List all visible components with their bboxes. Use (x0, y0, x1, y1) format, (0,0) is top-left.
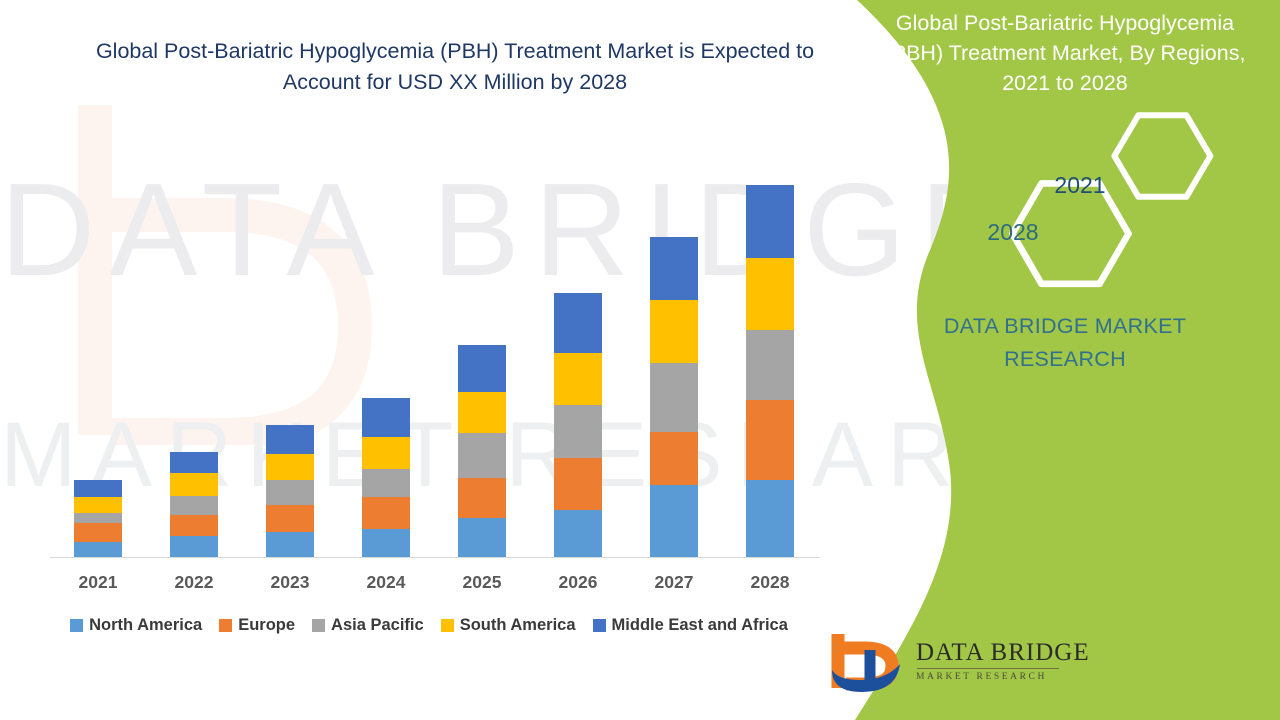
bar-segment-middle-east-and-africa-2021 (74, 480, 122, 497)
x-axis-label-2023: 2023 (250, 572, 330, 593)
bar-segment-middle-east-and-africa-2028 (746, 185, 794, 258)
logo-sub-text: MARKET RESEARCH (916, 671, 1066, 683)
legend-label: Europe (238, 616, 295, 635)
bar-2026 (554, 293, 602, 557)
bar-series-container (0, 0, 880, 557)
logo-text-block: DATA BRIDGE MARKET RESEARCH (916, 638, 1066, 683)
hexagon-label-2021: 2021 (1035, 172, 1125, 199)
logo-divider (917, 668, 1059, 669)
chart-legend: North AmericaEuropeAsia PacificSouth Ame… (0, 616, 858, 635)
x-axis-label-2025: 2025 (442, 572, 522, 593)
bar-segment-south-america-2028 (746, 258, 794, 330)
bar-2022 (170, 452, 218, 557)
legend-label: Asia Pacific (331, 616, 424, 635)
legend-swatch-icon (593, 619, 606, 632)
x-axis-label-2027: 2027 (634, 572, 714, 593)
bar-segment-north-america-2026 (554, 510, 602, 557)
bar-2025 (458, 345, 506, 557)
bar-segment-south-america-2027 (650, 300, 698, 363)
chart-plot-area: 20212022202320242025202620272028 North A… (0, 0, 880, 660)
bar-segment-south-america-2026 (554, 353, 602, 405)
legend-swatch-icon (441, 619, 454, 632)
bar-segment-europe-2026 (554, 458, 602, 510)
legend-swatch-icon (312, 619, 325, 632)
hexagon-svg (810, 0, 1280, 300)
legend-label: Middle East and Africa (612, 616, 788, 635)
bar-segment-north-america-2027 (650, 485, 698, 557)
bar-segment-south-america-2025 (458, 392, 506, 433)
x-axis-labels: 20212022202320242025202620272028 (0, 572, 880, 600)
bar-segment-north-america-2028 (746, 480, 794, 557)
bar-segment-europe-2023 (266, 505, 314, 532)
bar-segment-europe-2028 (746, 400, 794, 480)
hexagon-outline-2021 (1114, 115, 1210, 197)
bar-2024 (362, 398, 410, 557)
bar-2021 (74, 480, 122, 557)
panel-brand-text: DATA BRIDGE MARKET RESEARCH (900, 310, 1230, 376)
bar-segment-south-america-2021 (74, 497, 122, 513)
bar-segment-asia-pacific-2028 (746, 330, 794, 400)
bar-segment-asia-pacific-2024 (362, 469, 410, 497)
bar-segment-asia-pacific-2027 (650, 363, 698, 432)
bar-segment-asia-pacific-2021 (74, 513, 122, 523)
bar-2023 (266, 425, 314, 557)
bar-segment-europe-2021 (74, 523, 122, 542)
x-axis-label-2024: 2024 (346, 572, 426, 593)
bar-2027 (650, 237, 698, 557)
data-bridge-logo: DATA BRIDGE MARKET RESEARCH (830, 630, 1060, 700)
bar-segment-asia-pacific-2026 (554, 405, 602, 458)
hexagon-badges: 2028 2021 (810, 0, 1280, 300)
bar-segment-asia-pacific-2025 (458, 433, 506, 478)
bar-2028 (746, 185, 794, 557)
bar-segment-north-america-2023 (266, 532, 314, 557)
legend-item-europe[interactable]: Europe (219, 616, 295, 635)
legend-swatch-icon (70, 619, 83, 632)
bar-segment-middle-east-and-africa-2024 (362, 398, 410, 437)
bar-segment-south-america-2024 (362, 437, 410, 469)
legend-label: North America (89, 616, 202, 635)
logo-main-text: DATA BRIDGE (916, 638, 1066, 667)
bar-segment-north-america-2021 (74, 542, 122, 557)
bar-segment-middle-east-and-africa-2022 (170, 452, 218, 473)
legend-item-north-america[interactable]: North America (70, 616, 202, 635)
bar-segment-europe-2022 (170, 515, 218, 536)
bar-segment-south-america-2022 (170, 473, 218, 496)
x-axis-line (50, 557, 820, 558)
bar-segment-europe-2027 (650, 432, 698, 485)
infographic-canvas: DATA BRIDGE MARKET RESEARCH Global Post-… (0, 0, 1280, 720)
legend-item-middle-east-and-africa[interactable]: Middle East and Africa (593, 616, 788, 635)
bar-segment-middle-east-and-africa-2025 (458, 345, 506, 392)
bar-segment-middle-east-and-africa-2026 (554, 293, 602, 353)
x-axis-label-2021: 2021 (58, 572, 138, 593)
legend-label: South America (460, 616, 576, 635)
bar-segment-europe-2025 (458, 478, 506, 518)
panel-content: Global Post-Bariatric Hypoglycemia (PBH)… (810, 0, 1280, 720)
bar-segment-middle-east-and-africa-2023 (266, 425, 314, 454)
x-axis-label-2026: 2026 (538, 572, 618, 593)
bar-segment-asia-pacific-2023 (266, 480, 314, 505)
bar-segment-south-america-2023 (266, 454, 314, 480)
hexagon-label-2028: 2028 (968, 219, 1058, 246)
bar-segment-middle-east-and-africa-2027 (650, 237, 698, 300)
bar-segment-north-america-2024 (362, 529, 410, 557)
bar-segment-north-america-2025 (458, 518, 506, 557)
bar-segment-europe-2024 (362, 497, 410, 529)
legend-item-south-america[interactable]: South America (441, 616, 576, 635)
x-axis-label-2022: 2022 (154, 572, 234, 593)
bar-segment-north-america-2022 (170, 536, 218, 557)
legend-swatch-icon (219, 619, 232, 632)
logo-mark-icon (830, 630, 910, 696)
legend-item-asia-pacific[interactable]: Asia Pacific (312, 616, 424, 635)
x-axis-label-2028: 2028 (730, 572, 810, 593)
bar-segment-asia-pacific-2022 (170, 496, 218, 515)
